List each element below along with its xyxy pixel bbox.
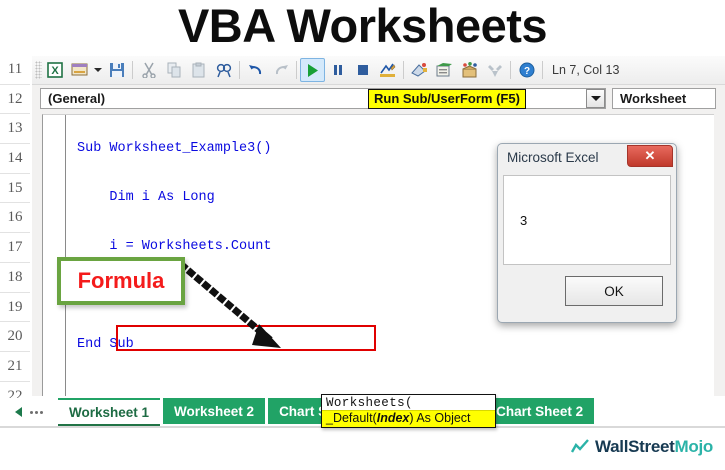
undo-icon[interactable]	[243, 58, 268, 82]
message-box-body: 3	[503, 175, 671, 265]
row-header-cell[interactable]: 19	[0, 293, 30, 323]
intellisense-param: Index	[377, 411, 410, 425]
insert-dropdown-icon[interactable]	[92, 58, 104, 82]
close-icon[interactable]: ✕	[627, 145, 673, 167]
row-header-cell[interactable]: 21	[0, 352, 30, 382]
brand-secondary: Mojo	[675, 437, 713, 456]
row-header-cell[interactable]: 16	[0, 203, 30, 233]
brand-logo: WallStreetMojo	[570, 434, 713, 460]
page-title: VBA Worksheets	[0, 0, 725, 54]
message-box-titlebar: Microsoft Excel ✕	[501, 147, 673, 173]
message-box-footer: OK	[501, 265, 673, 317]
pause-icon[interactable]	[325, 58, 350, 82]
stop-icon[interactable]	[350, 58, 375, 82]
intellisense-signature: Worksheets(	[322, 395, 495, 410]
vbe-toolbar: X	[32, 56, 725, 85]
project-explorer-icon[interactable]	[407, 58, 432, 82]
view-excel-icon[interactable]: X	[42, 58, 67, 82]
toolbar-separator	[296, 61, 297, 79]
formula-callout: Formula	[57, 257, 185, 305]
brand-primary: WallStreet	[595, 437, 675, 456]
ok-button[interactable]: OK	[565, 276, 663, 306]
row-header-cell[interactable]: 20	[0, 322, 30, 352]
design-mode-icon[interactable]	[375, 58, 400, 82]
code-margin-indicator-bar	[43, 115, 66, 396]
insert-userform-icon[interactable]	[67, 58, 92, 82]
help-icon[interactable]: ?	[514, 58, 539, 82]
object-browser-icon[interactable]	[457, 58, 482, 82]
row-header-column: 111213141516171819202122	[0, 55, 30, 400]
previous-sheet-icon[interactable]	[15, 407, 22, 417]
sheet-tab-1[interactable]: Worksheet 1	[58, 398, 160, 426]
message-box-title: Microsoft Excel	[507, 150, 599, 165]
logo-mark-icon	[570, 437, 590, 457]
toolbar-grip[interactable]	[35, 61, 42, 79]
intellisense-prefix: _Default(	[326, 411, 377, 425]
redo-icon[interactable]	[268, 58, 293, 82]
paste-icon[interactable]	[186, 58, 211, 82]
row-header-cell[interactable]: 17	[0, 233, 30, 263]
toolbar-separator	[132, 61, 133, 79]
procedure-dropdown-value: Worksheet	[620, 91, 686, 106]
intellisense-tooltip: Worksheets( _Default(Index) As Object	[321, 394, 496, 428]
row-header-cell[interactable]: 14	[0, 144, 30, 174]
object-dropdown-value: (General)	[48, 91, 105, 106]
procedure-dropdown[interactable]: Worksheet	[612, 88, 716, 109]
row-header-cell[interactable]: 18	[0, 263, 30, 293]
dotted-arrow-annotation	[180, 262, 300, 354]
excel-message-box: Microsoft Excel ✕ 3 OK	[497, 143, 677, 323]
sheet-tab-2[interactable]: Worksheet 2	[163, 398, 265, 424]
toolbox-icon[interactable]	[482, 58, 507, 82]
row-header-cell[interactable]: 11	[0, 55, 30, 85]
message-box-value: 3	[520, 213, 527, 228]
svg-text:?: ?	[523, 66, 529, 77]
toolbar-separator	[542, 61, 543, 79]
run-button-tooltip: Run Sub/UserForm (F5)	[368, 89, 526, 109]
intellisense-param-line: _Default(Index) As Object	[322, 410, 495, 427]
toolbar-separator	[403, 61, 404, 79]
chevron-down-icon[interactable]	[586, 89, 605, 108]
cut-icon[interactable]	[136, 58, 161, 82]
intellisense-suffix: ) As Object	[409, 411, 470, 425]
sheet-tab-nav[interactable]	[0, 398, 58, 426]
row-header-cell[interactable]: 13	[0, 114, 30, 144]
find-icon[interactable]	[211, 58, 236, 82]
more-sheets-icon[interactable]	[30, 411, 43, 414]
formula-callout-label: Formula	[78, 268, 165, 294]
save-icon[interactable]	[104, 58, 129, 82]
run-icon[interactable]	[300, 58, 325, 82]
cursor-position-status: Ln 7, Col 13	[552, 63, 619, 77]
toolbar-separator	[510, 61, 511, 79]
copy-icon[interactable]	[161, 58, 186, 82]
row-header-cell[interactable]: 12	[0, 85, 30, 115]
properties-window-icon[interactable]	[432, 58, 457, 82]
brand-logo-text: WallStreetMojo	[595, 437, 713, 457]
sheet-tab-5[interactable]: Chart Sheet 2	[485, 398, 594, 424]
row-header-cell[interactable]: 15	[0, 174, 30, 204]
toolbar-separator	[239, 61, 240, 79]
svg-text:X: X	[51, 65, 59, 77]
